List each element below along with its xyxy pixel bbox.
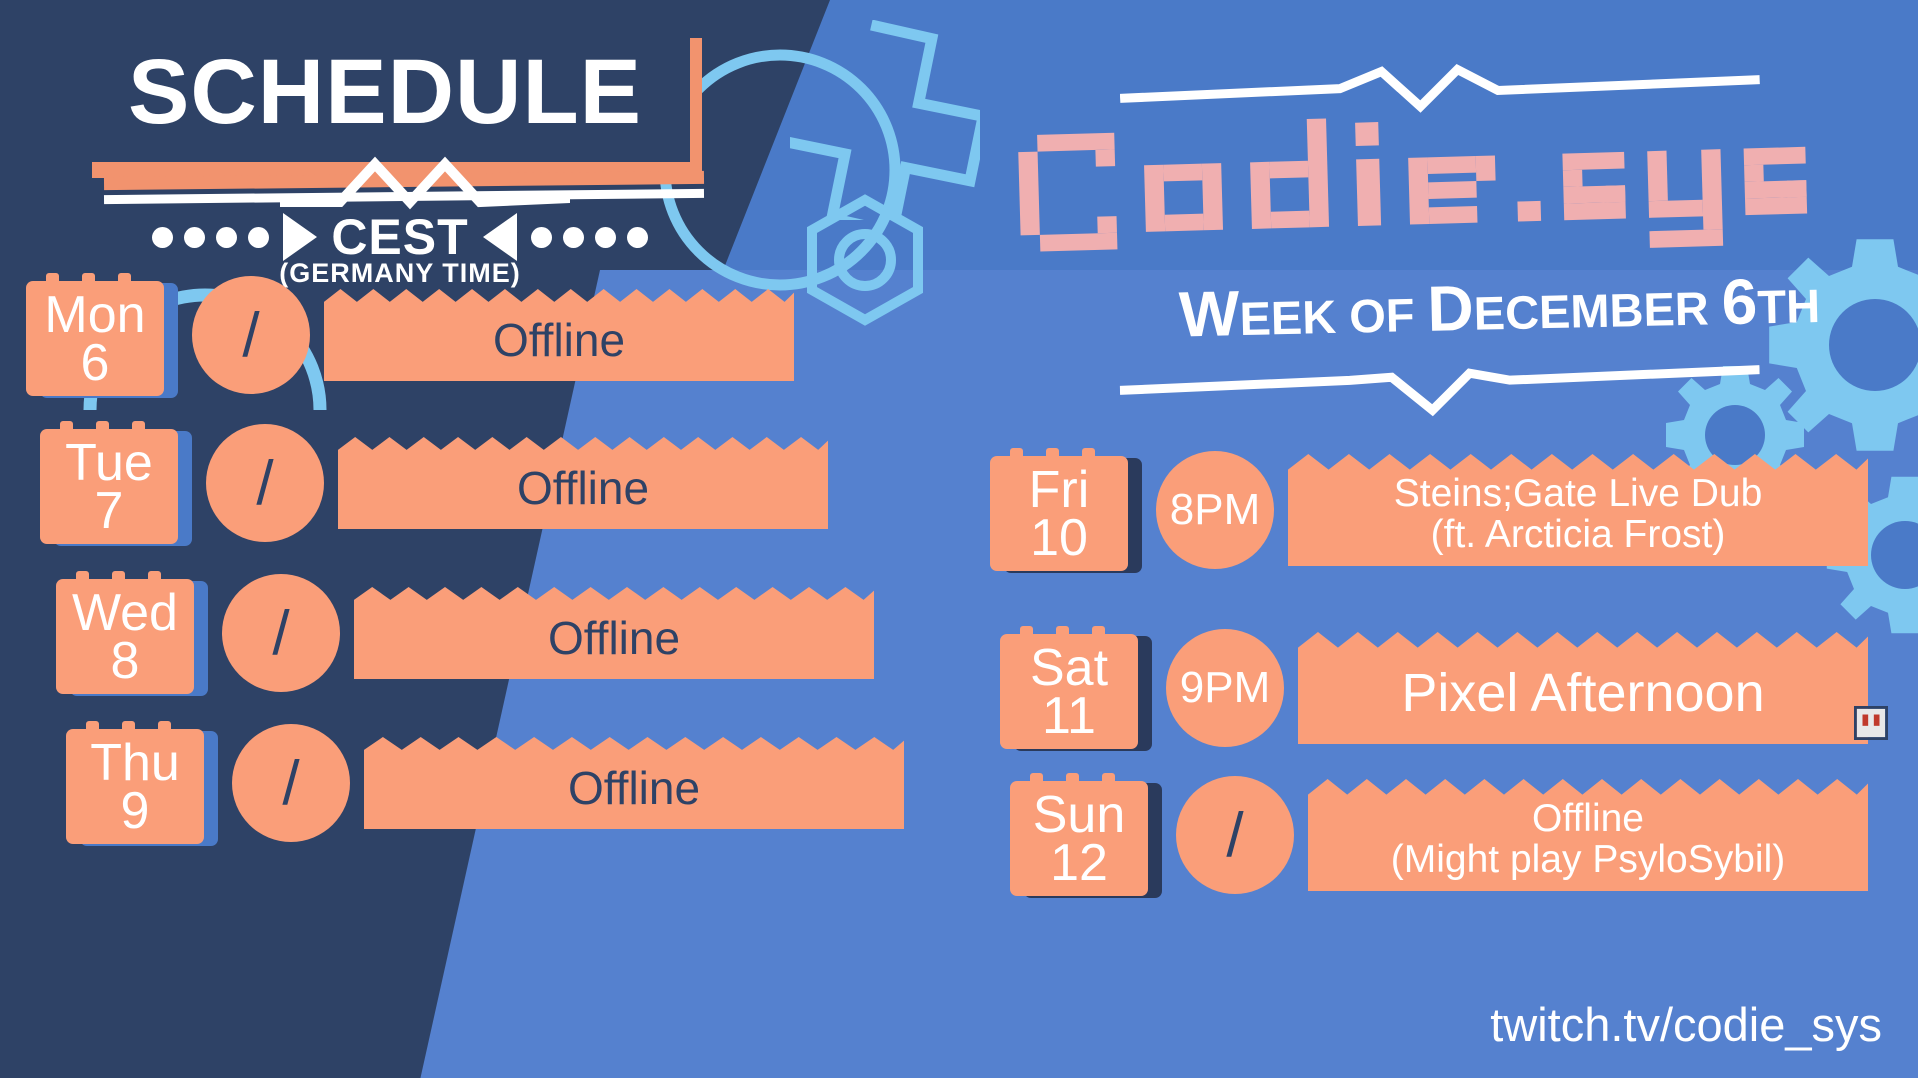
day-date: 6 (81, 340, 110, 388)
dot-icon (216, 227, 237, 248)
day-name: Thu (90, 740, 180, 788)
day-date: 12 (1050, 840, 1108, 888)
time-badge: / (232, 724, 350, 842)
triangle-right-icon (283, 213, 317, 261)
calendar-badge: Thu 9 (66, 721, 218, 846)
time-badge: / (206, 424, 324, 542)
day-date: 11 (1042, 693, 1096, 741)
dot-icon (627, 227, 648, 248)
schedule-row: Sat 11 9PM Pixel Afternoon (1000, 618, 1900, 758)
time-badge: 8PM (1156, 451, 1274, 569)
month-rest: ECEMBER (1473, 281, 1722, 340)
schedule-row: Sun 12 / Offline (Might play PsyloSybil) (1010, 760, 1900, 910)
schedule-row: Fri 10 8PM Steins;Gate Live Dub (ft. Arc… (990, 440, 1900, 580)
day-date: 10 (1030, 515, 1088, 563)
dot-icon (595, 227, 616, 248)
dot-icon (531, 227, 552, 248)
schedule-graphic: SCHEDULE CEST (GERMANY TIME) (0, 0, 1918, 1078)
calendar-badge: Tue 7 (40, 421, 192, 546)
event-label: Offline (338, 437, 828, 529)
calendar-body: Sat 11 (1000, 634, 1138, 749)
schedule-row: Wed 8 / Offline (56, 568, 996, 698)
event-label: Pixel Afternoon (1298, 632, 1868, 744)
event-sublabel: (Might play PsyloSybil) (1391, 838, 1785, 881)
schedule-row: Tue 7 / Offline (40, 418, 980, 548)
month-initial: D (1427, 272, 1475, 345)
day-name: Mon (44, 292, 145, 340)
dot-icon (152, 227, 173, 248)
week-of-w: W (1178, 277, 1240, 350)
event-label: Offline (324, 289, 794, 381)
calendar-badge: Sun 12 (1010, 773, 1162, 898)
week-of-rest: EEK OF (1239, 288, 1428, 345)
event-label: Offline (364, 737, 904, 829)
triangle-left-icon (483, 213, 517, 261)
calendar-badge: Fri 10 (990, 448, 1142, 573)
day-date: 8 (111, 638, 140, 686)
calendar-body: Thu 9 (66, 729, 204, 844)
dot-icon (184, 227, 205, 248)
twitch-url[interactable]: twitch.tv/codie_sys (1490, 997, 1882, 1052)
pixel-sprite-icon (1854, 706, 1888, 740)
event-label: Steins;Gate Live Dub (1394, 472, 1763, 515)
day-name: Sun (1033, 792, 1126, 840)
day-name: Tue (65, 440, 153, 488)
event-sublabel: (ft. Arcticia Frost) (1431, 513, 1726, 556)
event-bar: Offline (324, 289, 794, 381)
event-label-wrap: Steins;Gate Live Dub (ft. Arcticia Frost… (1288, 454, 1868, 566)
brand-logo (998, 97, 1812, 270)
calendar-badge: Mon 6 (26, 273, 178, 398)
zigzag-divider-left (280, 150, 570, 210)
calendar-body: Tue 7 (40, 429, 178, 544)
event-bar: Offline (354, 587, 874, 679)
day-suffix: TH (1757, 279, 1821, 333)
event-bar: Offline (338, 437, 828, 529)
day-name: Wed (72, 590, 178, 638)
day-date: 9 (121, 788, 150, 836)
calendar-body: Mon 6 (26, 281, 164, 396)
event-bar: Offline (364, 737, 904, 829)
time-badge: / (1176, 776, 1294, 894)
calendar-body: Wed 8 (56, 579, 194, 694)
event-bar: Pixel Afternoon (1298, 632, 1868, 744)
event-label: Offline (354, 587, 874, 679)
event-label-wrap: Offline (Might play PsyloSybil) (1308, 779, 1868, 891)
day-number: 6 (1721, 265, 1758, 338)
page-title: SCHEDULE (128, 46, 642, 138)
dots-right (531, 227, 648, 248)
schedule-row: Mon 6 / Offline (26, 270, 966, 400)
schedule-row: Thu 9 / Offline (66, 718, 1006, 848)
schedule-title-box: SCHEDULE (80, 22, 690, 162)
day-date: 7 (95, 488, 124, 536)
day-name: Fri (1029, 467, 1090, 515)
dot-icon (563, 227, 584, 248)
event-bar: Offline (Might play PsyloSybil) (1308, 779, 1868, 891)
dots-left (152, 227, 269, 248)
event-bar: Steins;Gate Live Dub (ft. Arcticia Frost… (1288, 454, 1868, 566)
time-badge: 9PM (1166, 629, 1284, 747)
time-badge: / (192, 276, 310, 394)
calendar-badge: Wed 8 (56, 571, 208, 696)
calendar-badge: Sat 11 (1000, 626, 1152, 751)
calendar-body: Sun 12 (1010, 781, 1148, 896)
dot-icon (248, 227, 269, 248)
time-badge: / (222, 574, 340, 692)
event-label: Offline (1532, 797, 1644, 840)
day-name: Sat (1030, 645, 1108, 693)
calendar-body: Fri 10 (990, 456, 1128, 571)
